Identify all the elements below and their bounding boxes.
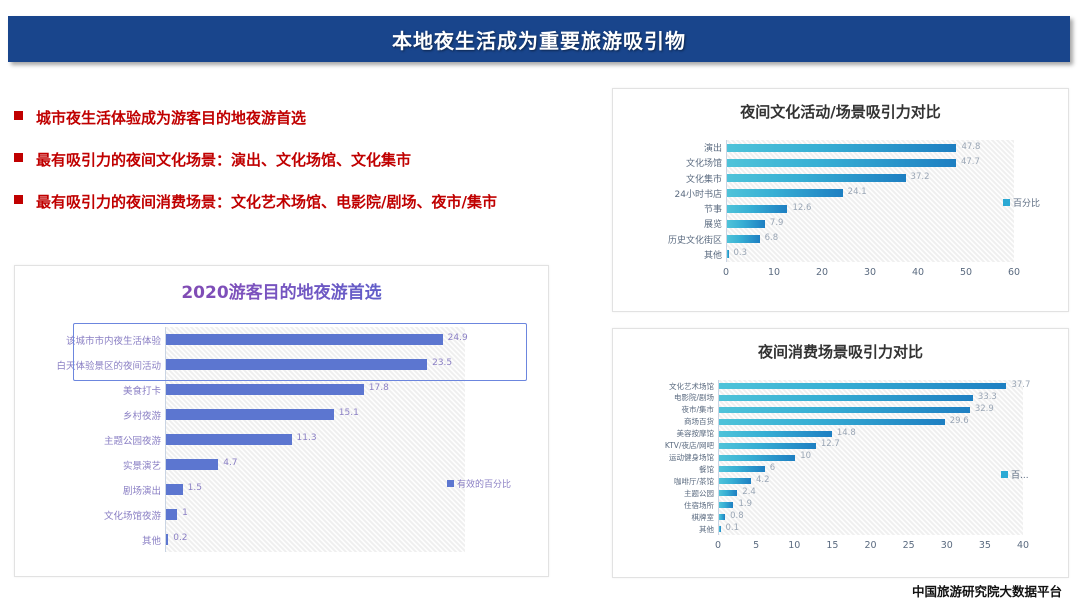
chart-value-label: 11.3 [297,433,317,443]
chart-category-label: 棋牌室 [613,512,714,523]
chart-value-label: 2.4 [742,487,756,497]
bullet-item: 最有吸引力的夜间消费场景：文化艺术场馆、电影院/剧场、夜市/集市 [14,189,594,215]
chart-value-label: 0.8 [730,511,744,521]
chart-panel-culture-scene: 夜间文化活动/场景吸引力对比 演出47.8文化场馆47.7文化集市37.224小… [612,88,1069,312]
x-axis-tick-label: 10 [768,267,780,278]
chart-category-label: 住宿场所 [613,500,714,511]
chart-category-label: 乡村夜游 [15,408,161,422]
x-axis-tick-label: 25 [903,540,915,551]
chart-category-label: 该城市市内夜生活体验 [15,333,161,347]
chart-category-label: 文化集市 [613,172,722,185]
chart-bar [727,159,956,167]
chart-bar [166,434,292,445]
chart-bar [727,174,906,182]
legend-label: 百分比 [1013,196,1040,209]
legend-swatch-icon [1003,199,1010,206]
chart-title: 夜间消费场景吸引力对比 [613,329,1068,362]
chart-bar [727,220,765,228]
chart-category-label: 其他 [15,533,161,547]
chart-bar [727,189,843,197]
x-axis-tick-label: 0 [715,540,721,551]
chart-title: 夜间文化活动/场景吸引力对比 [613,89,1068,122]
chart-category-label: 文化艺术场馆 [613,381,714,392]
chart-value-label: 12.7 [821,439,840,449]
chart-bar [719,502,733,508]
x-axis-tick-label: 15 [826,540,838,551]
x-axis-tick-label: 40 [1017,540,1029,551]
x-axis-tick-label: 0 [723,267,729,278]
chart-bar [719,455,795,461]
chart-legend: 有效的百分比 [447,477,511,490]
chart-value-label: 4.7 [223,458,237,468]
x-axis-tick-label: 60 [1008,267,1020,278]
chart-value-label: 6 [770,463,775,473]
chart-value-label: 12.6 [792,203,811,213]
x-axis-tick-label: 30 [941,540,953,551]
chart-bar [719,490,737,496]
chart-value-label: 1 [182,508,188,518]
chart-bar [166,484,183,495]
chart-value-label: 4.2 [756,475,770,485]
chart-value-label: 14.8 [837,428,856,438]
chart-category-label: 文化场馆夜游 [15,508,161,522]
chart-category-label: 其他 [613,524,714,535]
chart-bar [727,205,787,213]
x-axis-tick-label: 5 [753,540,759,551]
chart-category-label: 演出 [613,141,722,154]
chart-plot-area: 文化艺术场馆37.7电影院/剧场33.3夜市/集市32.9商场百货29.6美容按… [613,368,1068,575]
x-axis-tick-label: 20 [816,267,828,278]
chart-category-label: 展览 [613,217,722,230]
chart-bar [719,466,765,472]
chart-category-label: 历史文化街区 [613,233,722,246]
chart-value-label: 29.6 [950,416,969,426]
chart-value-label: 47.7 [961,157,980,167]
slide-title-banner: 本地夜生活成为重要旅游吸引物 [8,16,1070,62]
bullet-square-icon [14,195,23,204]
chart-plot-area: 该城市市内夜生活体验24.9白天体验景区的夜间活动23.5美食打卡17.8乡村夜… [15,309,548,592]
x-axis-tick-label: 30 [864,267,876,278]
page-title: 本地夜生活成为重要旅游吸引物 [392,25,686,54]
chart-value-label: 37.2 [911,172,930,182]
chart-value-label: 6.8 [765,233,779,243]
slide-root: 本地夜生活成为重要旅游吸引物 城市夜生活体验成为游客目的地夜游首选 最有吸引力的… [0,0,1080,608]
chart-category-label: 主题公园夜游 [15,433,161,447]
chart-value-label: 0.1 [726,523,740,533]
chart-bar [166,384,364,395]
chart-title: 2020游客目的地夜游首选 [15,266,548,303]
bullet-item: 最有吸引力的夜间文化场景：演出、文化场馆、文化集市 [14,147,594,173]
chart-category-label: 商场百货 [613,416,714,427]
bullet-text: 最有吸引力的夜间消费场景：文化艺术场馆、电影院/剧场、夜市/集市 [36,189,497,215]
chart-category-label: 节事 [613,202,722,215]
chart-category-label: 其他 [613,248,722,261]
legend-swatch-icon [1001,471,1008,478]
bullet-text: 城市夜生活体验成为游客目的地夜游首选 [36,105,306,131]
chart-value-label: 32.9 [975,404,994,414]
chart-value-label: 1.9 [738,499,752,509]
chart-panel-tourist-night-choice: 2020游客目的地夜游首选 该城市市内夜生活体验24.9白天体验景区的夜间活动2… [14,265,549,577]
chart-value-label: 1.5 [188,483,202,493]
bullet-list: 城市夜生活体验成为游客目的地夜游首选 最有吸引力的夜间文化场景：演出、文化场馆、… [14,105,594,231]
chart-bar [719,478,751,484]
chart-panel-consumption-scene: 夜间消费场景吸引力对比 文化艺术场馆37.7电影院/剧场33.3夜市/集市32.… [612,328,1069,578]
chart-category-label: 主题公园 [613,488,714,499]
chart-category-label: 24小时书店 [613,187,722,200]
chart-bar [719,383,1006,389]
legend-label: 百... [1011,468,1029,481]
chart-bar [719,395,973,401]
bullet-square-icon [14,153,23,162]
chart-value-label: 37.7 [1011,380,1030,390]
chart-category-label: 电影院/剧场 [613,392,714,403]
chart-bar [719,431,832,437]
chart-bar [166,359,427,370]
chart-category-label: 实景演艺 [15,458,161,472]
chart-bar [166,334,443,345]
x-axis-tick-label: 10 [788,540,800,551]
chart-category-label: 咖啡厅/茶馆 [613,476,714,487]
x-axis-tick-label: 20 [864,540,876,551]
chart-value-label: 24.1 [848,187,867,197]
chart-value-label: 17.8 [369,383,389,393]
chart-value-label: 10 [800,451,811,461]
x-axis-tick-label: 40 [912,267,924,278]
chart-bar [719,526,721,532]
chart-category-label: KTV/夜店/网吧 [613,440,714,451]
chart-bar [727,250,729,258]
bullet-square-icon [14,111,23,120]
chart-legend: 百分比 [1003,196,1040,209]
chart-bar [727,144,956,152]
chart-value-label: 33.3 [978,392,997,402]
chart-category-label: 夜市/集市 [613,404,714,415]
chart-category-label: 剧场演出 [15,483,161,497]
chart-legend: 百... [1001,468,1029,481]
chart-category-label: 白天体验景区的夜间活动 [15,358,161,372]
footer-source: 中国旅游研究院大数据平台 [912,581,1062,600]
chart-bar [166,509,177,520]
chart-value-label: 24.9 [448,333,468,343]
chart-bar [166,409,334,420]
x-axis-tick-label: 35 [979,540,991,551]
bullet-item: 城市夜生活体验成为游客目的地夜游首选 [14,105,594,131]
chart-bar [166,534,168,545]
chart-value-label: 0.3 [734,248,748,258]
chart-bar [719,407,970,413]
chart-bar [166,459,218,470]
chart-value-label: 15.1 [339,408,359,418]
chart-bar [719,443,816,449]
legend-swatch-icon [447,480,454,487]
chart-bar [727,235,760,243]
chart-category-label: 运动健身场馆 [613,452,714,463]
chart-category-label: 美容按摩馆 [613,428,714,439]
chart-value-label: 23.5 [432,358,452,368]
chart-bar [719,419,945,425]
chart-value-label: 7.9 [770,218,784,228]
chart-value-label: 0.2 [173,533,187,543]
chart-category-label: 文化场馆 [613,156,722,169]
chart-value-label: 47.8 [961,142,980,152]
chart-category-label: 餐馆 [613,464,714,475]
legend-label: 有效的百分比 [457,477,511,490]
x-axis-tick-label: 50 [960,267,972,278]
chart-bar [719,514,725,520]
bullet-text: 最有吸引力的夜间文化场景：演出、文化场馆、文化集市 [36,147,411,173]
chart-category-label: 美食打卡 [15,383,161,397]
chart-plot-area: 演出47.8文化场馆47.7文化集市37.224小时书店24.1节事12.6展览… [613,128,1068,302]
